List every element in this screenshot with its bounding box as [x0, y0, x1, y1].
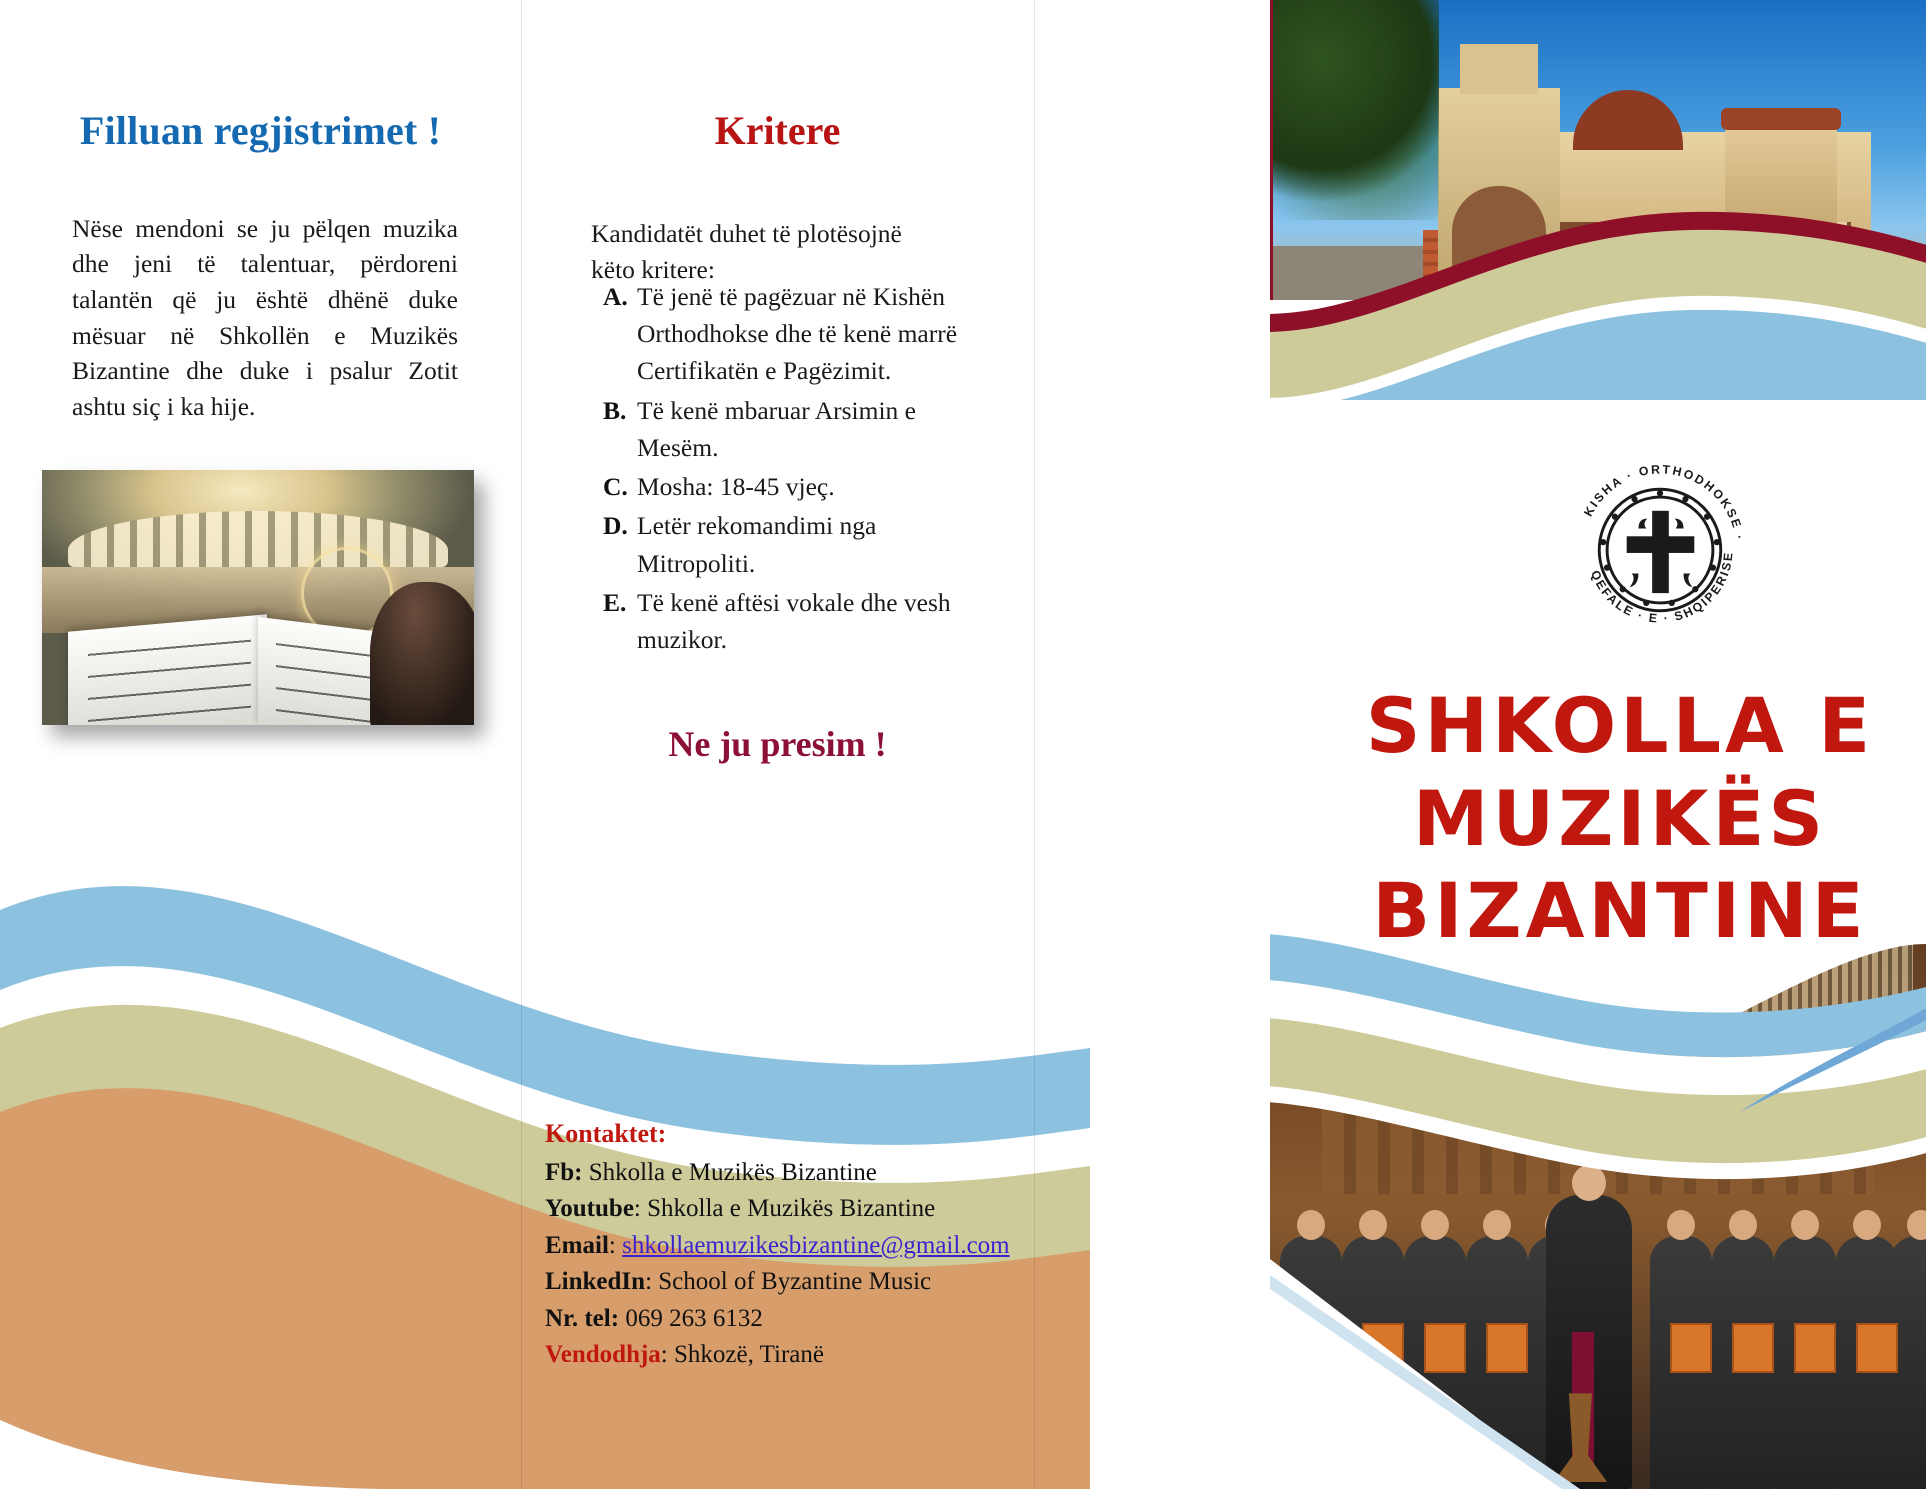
fold-line-right — [1034, 0, 1035, 1489]
byzantine-choir-concert-photo — [1270, 900, 1926, 1489]
contact-row-phone: Nr. tel: 069 263 6132 — [545, 1301, 1045, 1338]
criteria-letter: D. — [603, 507, 637, 544]
panel-middle-tagline: Ne ju presim ! — [521, 723, 1034, 765]
contact-row-linkedin: LinkedIn: School of Byzantine Music — [545, 1264, 1045, 1301]
contact-title: Kontaktet: — [545, 1115, 1045, 1153]
panel-cover: KISHA · ORTHODHOKSE · AUTO QEFALE · E · … — [1034, 0, 1926, 1489]
panel-left-paragraph: Nëse mendoni se ju pëlqen muzika dhe jen… — [72, 211, 458, 425]
contact-value-facebook: Shkolla e Muzikës Bizantine — [583, 1159, 877, 1186]
criteria-text: Mosha: 18-45 vjeç. — [637, 468, 967, 505]
criteria-item: A. Të jenë të pagëzuar në Kishën Orthodh… — [603, 278, 1003, 390]
criteria-letter: C. — [603, 468, 637, 505]
contact-value-youtube: : Shkolla e Muzikës Bizantine — [634, 1195, 935, 1222]
orthodox-church-seal-icon: KISHA · ORTHODHOKSE · AUTO QEFALE · E · … — [1562, 452, 1758, 648]
criteria-item: D. Letër rekomandimi nga Mitropoliti. — [603, 507, 1003, 581]
criteria-letter: B. — [603, 392, 637, 429]
criteria-text: Të kenë aftësi vokale dhe vesh muzikor. — [637, 584, 967, 658]
contact-label-phone: Nr. tel: — [545, 1305, 619, 1332]
cover-title-line-2: MUZIKËS — [1314, 773, 1926, 866]
contact-row-facebook: Fb: Shkolla e Muzikës Bizantine — [545, 1155, 1045, 1192]
cover-bottom-corner-decoration — [1270, 1259, 1926, 1489]
cover-title-line-1: SHKOLLA E — [1314, 680, 1926, 773]
contact-row-youtube: Youtube: Shkolla e Muzikës Bizantine — [545, 1191, 1045, 1228]
brochure-page: Filluan regjistrimet ! Nëse mendoni se j… — [0, 0, 1926, 1489]
panel-left-heading: Filluan regjistrimet ! — [0, 107, 521, 154]
criteria-text: Të jenë të pagëzuar në Kishën Orthodhoks… — [637, 278, 967, 390]
contact-label-facebook: Fb: — [545, 1159, 583, 1186]
criteria-text: Letër rekomandimi nga Mitropoliti. — [637, 507, 967, 581]
contact-email-separator: : — [609, 1232, 622, 1259]
cover-top-wave-decoration — [1270, 210, 1926, 400]
cover-top-photo-area — [1270, 0, 1926, 300]
criteria-letter: A. — [603, 278, 637, 315]
contact-block: Kontaktet: Fb: Shkolla e Muzikës Bizanti… — [545, 1115, 1045, 1374]
contact-label-email: Email — [545, 1232, 609, 1259]
contact-value-phone: 069 263 6132 — [619, 1305, 763, 1332]
cover-title: SHKOLLA E MUZIKËS BIZANTINE — [1314, 680, 1926, 958]
contact-label-location: Vendodhja — [545, 1341, 661, 1368]
fold-line-left — [521, 0, 522, 1489]
criteria-item: E. Të kenë aftësi vokale dhe vesh muziko… — [603, 584, 1003, 658]
contact-value-linkedin: : School of Byzantine Music — [645, 1268, 931, 1295]
contact-label-youtube: Youtube — [545, 1195, 634, 1222]
contact-label-linkedin: LinkedIn — [545, 1268, 645, 1295]
cover-title-line-3: BIZANTINE — [1314, 865, 1926, 958]
contact-row-location: Vendodhja: Shkozë, Tiranë — [545, 1337, 1045, 1374]
byzantine-chant-book-photo — [42, 470, 474, 725]
criteria-text: Të kenë mbaruar Arsimin e Mesëm. — [637, 392, 967, 466]
panel-middle-heading: Kritere — [521, 107, 1034, 154]
contact-value-location: : Shkozë, Tiranë — [661, 1341, 824, 1368]
criteria-list: A. Të jenë të pagëzuar në Kishën Orthodh… — [603, 278, 1003, 660]
criteria-letter: E. — [603, 584, 637, 621]
contact-email-link[interactable]: shkollaemuzikesbizantine@gmail.com — [622, 1232, 1010, 1259]
criteria-item: C. Mosha: 18-45 vjeç. — [603, 468, 1003, 505]
contact-row-email: Email: shkollaemuzikesbizantine@gmail.co… — [545, 1228, 1045, 1265]
criteria-item: B. Të kenë mbaruar Arsimin e Mesëm. — [603, 392, 1003, 466]
